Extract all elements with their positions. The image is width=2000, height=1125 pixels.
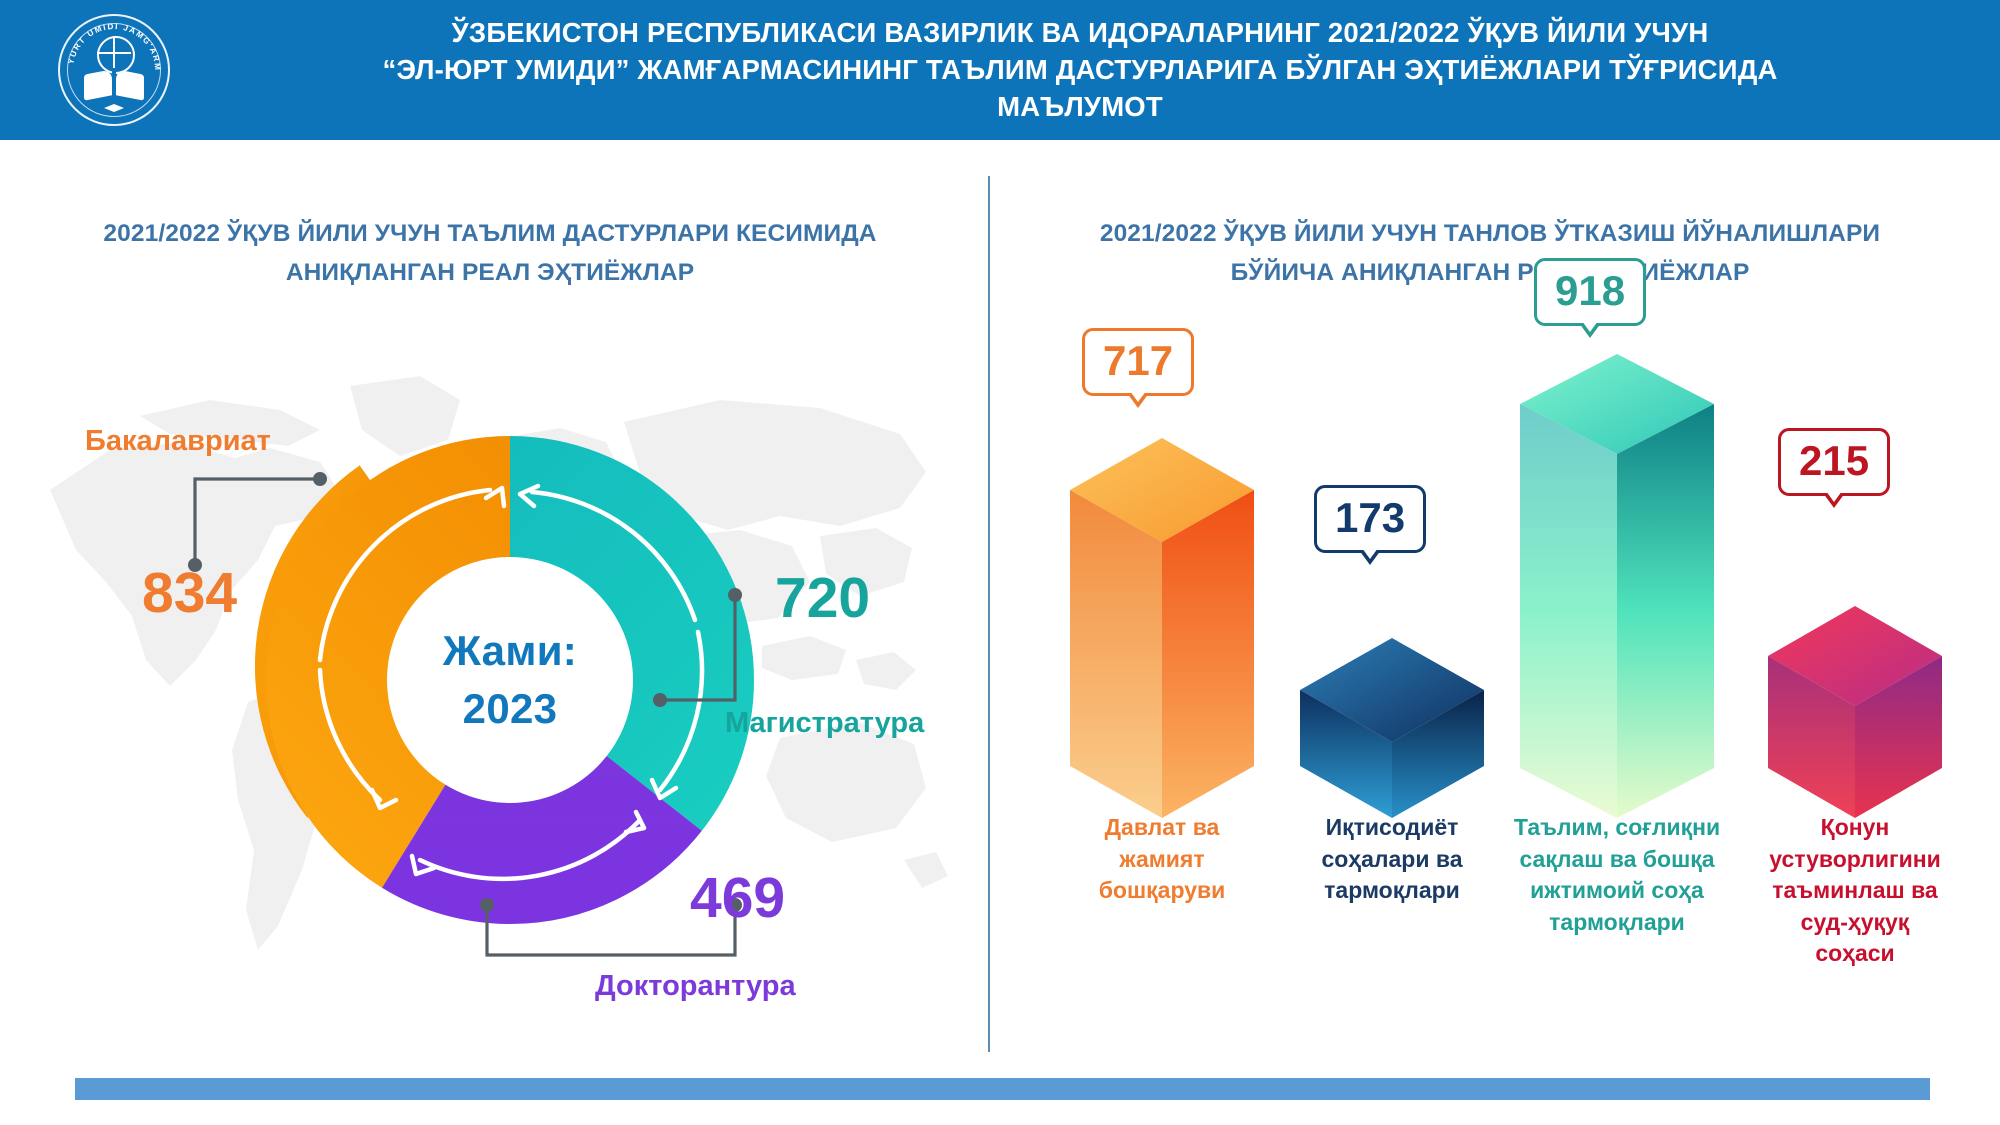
donut-label-bakalavriat: Бакалавриат xyxy=(85,425,271,458)
bar-label-line: суд-ҳуқуқ соҳаси xyxy=(1760,907,1950,970)
bar-label-line: тармоқлари xyxy=(1512,907,1722,939)
competition-directions-bar-chart: 717 Давлат в xyxy=(1030,300,1970,1060)
bar-label-line: ижтимоий соҳа xyxy=(1512,875,1722,907)
bar-3d-iqtisodiyot[interactable] xyxy=(1292,428,1492,828)
bar-3d-qonun[interactable] xyxy=(1760,428,1950,828)
bar-label-line: соҳалари ва xyxy=(1292,844,1492,876)
bar-3d-davlat[interactable] xyxy=(1062,428,1262,828)
right-panel-title-line-1: 2021/2022 ЎҚУВ ЙИЛИ УЧУН ТАНЛОВ ЎТКАЗИШ … xyxy=(1030,214,1950,253)
bar-column-iqtisodiyot[interactable]: 173 Иқтисодиёт xyxy=(1292,300,1492,1060)
bar-label-line: сақлаш ва бошқа xyxy=(1512,844,1722,876)
donut-label-magistratura: Магистратура xyxy=(725,707,924,740)
footer-accent-bar xyxy=(75,1078,1930,1100)
bar-callout-717: 717 xyxy=(1082,328,1194,396)
bar-label-qonun: Қонун устуворлигини таъминлаш ва суд-ҳуқ… xyxy=(1760,812,1950,970)
bar-label-line: устуворлигини xyxy=(1760,844,1950,876)
bar-callout-918: 918 xyxy=(1534,258,1646,326)
donut-value-magistratura: 720 xyxy=(775,565,870,631)
infographic-page: EL - YURT UMIDI JAMG'ARMASI ЎЗБЕКИСТОН Р… xyxy=(0,0,2000,1125)
donut-leader-lines xyxy=(0,0,1000,1060)
bar-label-line: Таълим, соғлиқни xyxy=(1512,812,1722,844)
bar-label-davlat: Давлат ва жамият бошқаруви xyxy=(1062,812,1262,907)
bar-label-line: жамият xyxy=(1062,844,1262,876)
donut-value-bakalavriat: 834 xyxy=(142,560,237,626)
donut-value-doktorantura: 469 xyxy=(690,865,785,931)
donut-label-doktorantura: Докторантура xyxy=(595,970,796,1003)
bar-label-line: Қонун xyxy=(1760,812,1950,844)
bar-column-davlat[interactable]: 717 Давлат в xyxy=(1062,300,1262,1060)
bar-label-line: Давлат ва xyxy=(1062,812,1262,844)
bar-label-iqtisodiyot: Иқтисодиёт соҳалари ва тармоқлари xyxy=(1292,812,1492,907)
right-panel-title-line-2: БЎЙИЧА АНИҚЛАНГАН РЕАЛ ЭҲТИЁЖЛАР xyxy=(1030,253,1950,292)
bar-3d-talim[interactable] xyxy=(1512,348,1722,828)
bar-label-line: тармоқлари xyxy=(1292,875,1492,907)
bar-label-line: Иқтисодиёт xyxy=(1292,812,1492,844)
bar-label-line: таъминлаш ва xyxy=(1760,875,1950,907)
bar-label-talim: Таълим, соғлиқни сақлаш ва бошқа ижтимои… xyxy=(1512,812,1722,938)
bar-column-talim[interactable]: 918 Таълим, xyxy=(1512,300,1722,1060)
bar-label-line: бошқаруви xyxy=(1062,875,1262,907)
bar-column-qonun[interactable]: 215 Қонун уст xyxy=(1760,300,1950,1060)
right-panel-title: 2021/2022 ЎҚУВ ЙИЛИ УЧУН ТАНЛОВ ЎТКАЗИШ … xyxy=(1030,214,1950,292)
